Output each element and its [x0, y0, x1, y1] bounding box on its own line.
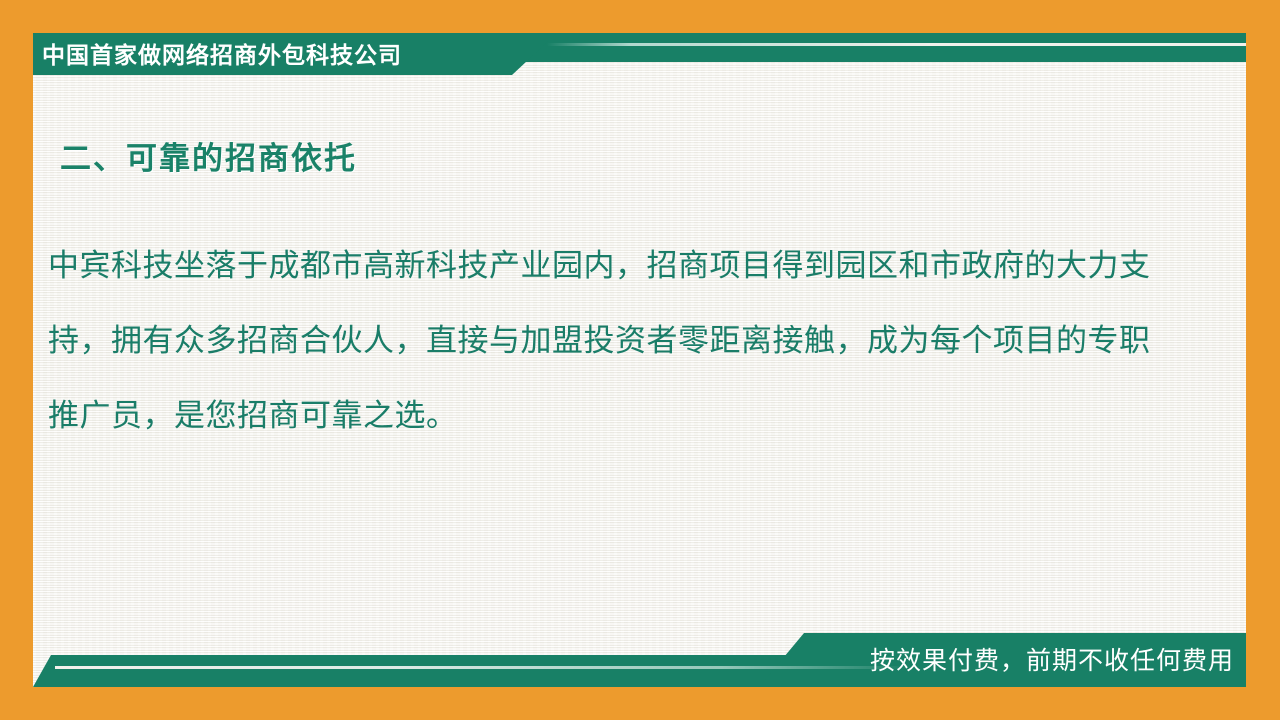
page-title: 二、可靠的招商依托	[60, 133, 357, 178]
body-paragraph: 中宾科技坐落于成都市高新科技产业园内，招商项目得到园区和市政府的大力支 持，拥有…	[48, 228, 1188, 453]
paragraph-line: 中宾科技坐落于成都市高新科技产业园内，招商项目得到园区和市政府的大力支	[48, 228, 1188, 303]
paragraph-line: 推广员，是您招商可靠之选。	[48, 378, 1188, 453]
paragraph-line: 持，拥有众多招商合伙人，直接与加盟投资者零距离接触，成为每个项目的专职	[48, 303, 1188, 378]
slide-canvas: 中国首家做网络招商外包科技公司 二、可靠的招商依托 中宾科技坐落于成都市高新科技…	[0, 0, 1280, 720]
